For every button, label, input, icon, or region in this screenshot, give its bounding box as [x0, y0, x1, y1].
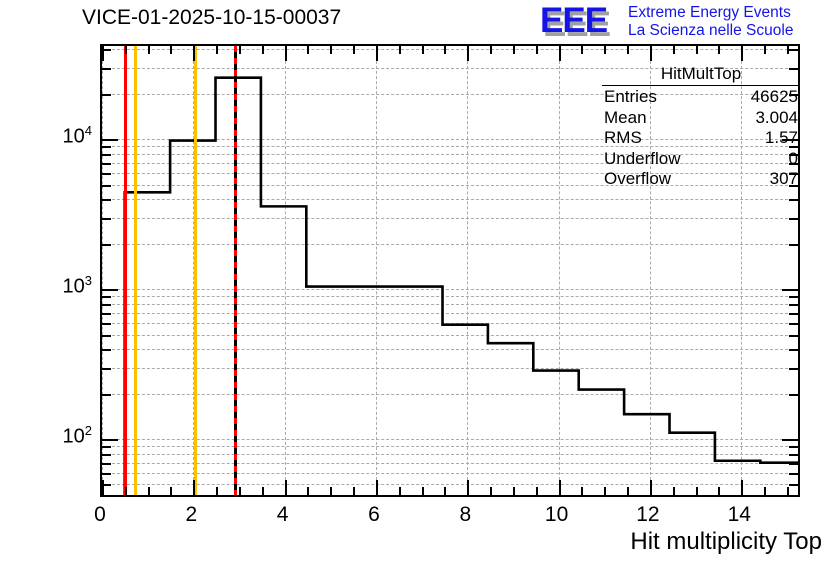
stats-row-label: RMS	[604, 128, 642, 149]
x-tick	[604, 487, 606, 495]
y-tick	[789, 313, 798, 315]
x-axis-tick-label: 6	[344, 503, 404, 527]
page-title: VICE-01-2025-10-15-00037	[82, 6, 341, 30]
x-tick	[696, 46, 698, 54]
x-tick	[102, 480, 104, 495]
eee-logo-line1: Extreme Energy Events	[628, 4, 793, 22]
x-tick	[285, 46, 287, 61]
x-tick	[559, 46, 561, 61]
stats-row: Overflow307	[600, 169, 802, 190]
x-tick	[673, 487, 675, 495]
x-tick	[376, 46, 378, 61]
x-tick	[399, 46, 401, 54]
y-tick	[102, 454, 111, 456]
x-tick	[627, 46, 629, 54]
y-tick-mantissa: 10	[63, 276, 85, 298]
eee-logo-text: Extreme Energy Events La Scienza nelle S…	[628, 4, 793, 40]
y-tick	[789, 199, 798, 201]
y-tick	[102, 163, 111, 165]
y-tick	[789, 463, 798, 465]
x-tick	[193, 46, 195, 61]
y-tick	[102, 185, 111, 187]
y-axis-tick-label: 103	[63, 273, 92, 299]
x-axis-tick-label: 2	[161, 503, 221, 527]
x-axis-tick-label: 12	[618, 503, 678, 527]
x-tick	[444, 46, 446, 54]
x-tick	[216, 487, 218, 495]
stats-divider	[602, 85, 800, 86]
x-tick	[787, 46, 789, 54]
marker-red-low	[124, 46, 127, 495]
x-tick	[536, 487, 538, 495]
x-axis-tick-label: 4	[253, 503, 313, 527]
stats-row-label: Overflow	[604, 169, 671, 190]
x-tick	[673, 46, 675, 54]
y-tick-exponent: 3	[85, 273, 92, 288]
y-tick	[102, 313, 111, 315]
y-tick	[789, 454, 798, 456]
x-tick	[330, 46, 332, 54]
x-tick	[330, 487, 332, 495]
y-tick	[789, 244, 798, 246]
y-tick	[102, 139, 118, 141]
marker-orange-high	[194, 46, 197, 495]
x-tick	[650, 480, 652, 495]
x-tick	[353, 46, 355, 54]
y-tick	[789, 484, 798, 486]
stats-row-value: 3.004	[755, 108, 798, 129]
x-tick	[604, 46, 606, 54]
x-tick	[490, 46, 492, 54]
x-tick	[239, 46, 241, 54]
x-tick	[262, 487, 264, 495]
stats-row: Mean3.004	[600, 108, 802, 129]
x-tick	[559, 480, 561, 495]
x-tick	[376, 480, 378, 495]
x-tick	[696, 487, 698, 495]
y-tick	[102, 218, 111, 220]
x-tick	[581, 487, 583, 495]
stats-rows: Entries46625Mean3.004RMS1.57Underflow0Ov…	[600, 87, 802, 190]
x-tick	[216, 46, 218, 54]
y-tick	[102, 446, 111, 448]
stats-row-label: Mean	[604, 108, 647, 129]
x-tick	[718, 487, 720, 495]
y-tick	[102, 473, 111, 475]
y-tick	[782, 289, 798, 291]
y-tick-mantissa: 10	[63, 126, 85, 148]
y-tick	[102, 304, 111, 306]
x-tick	[193, 480, 195, 495]
y-tick-exponent: 2	[85, 423, 92, 438]
y-tick	[789, 368, 798, 370]
x-tick	[148, 46, 150, 54]
y-tick	[102, 439, 118, 441]
x-axis-tick-label: 10	[527, 503, 587, 527]
y-axis-tick-label: 102	[63, 423, 92, 449]
x-tick	[467, 46, 469, 61]
x-tick	[353, 487, 355, 495]
y-tick	[789, 473, 798, 475]
x-tick	[490, 487, 492, 495]
eee-logo: EEE EEE Extreme Energy Events La Scienza…	[540, 2, 832, 42]
y-tick	[789, 296, 798, 298]
y-tick	[789, 446, 798, 448]
x-tick	[307, 46, 309, 54]
stats-box: HitMultTop Entries46625Mean3.004RMS1.57U…	[600, 64, 802, 190]
y-tick	[102, 349, 111, 351]
stats-row-value: 46625	[751, 87, 798, 108]
x-tick	[787, 487, 789, 495]
x-axis-tick-label: 0	[70, 503, 130, 527]
x-tick	[239, 487, 241, 495]
stats-row: Underflow0	[600, 149, 802, 170]
x-axis-tick-label: 8	[435, 503, 495, 527]
stats-row-value: 0	[789, 149, 798, 170]
y-tick	[789, 335, 798, 337]
y-tick	[102, 68, 111, 70]
y-tick	[102, 94, 111, 96]
y-tick	[102, 323, 111, 325]
y-tick	[789, 349, 798, 351]
eee-logo-mark: EEE	[540, 3, 607, 38]
y-tick	[102, 146, 111, 148]
stats-row-value: 1.57	[765, 128, 798, 149]
x-tick	[170, 487, 172, 495]
y-tick	[102, 244, 111, 246]
x-tick	[467, 480, 469, 495]
y-tick	[102, 368, 111, 370]
y-tick	[102, 296, 111, 298]
x-tick	[125, 487, 127, 495]
y-tick	[789, 49, 798, 51]
stats-row-label: Underflow	[604, 149, 681, 170]
x-tick	[148, 487, 150, 495]
x-tick	[422, 46, 424, 54]
x-tick	[764, 46, 766, 54]
eee-logo-line2: La Scienza nelle Scuole	[628, 22, 793, 40]
y-tick	[789, 394, 798, 396]
x-tick	[764, 487, 766, 495]
x-tick	[581, 46, 583, 54]
y-tick-mantissa: 10	[63, 426, 85, 448]
x-tick	[399, 487, 401, 495]
y-tick	[789, 323, 798, 325]
x-tick	[125, 46, 127, 54]
y-tick	[102, 154, 111, 156]
stats-row-value: 307	[770, 169, 798, 190]
x-tick	[650, 46, 652, 61]
x-tick	[422, 487, 424, 495]
y-tick	[102, 199, 111, 201]
stats-row: Entries46625	[600, 87, 802, 108]
x-tick	[102, 46, 104, 61]
stats-row: RMS1.57	[600, 128, 802, 149]
x-tick	[627, 487, 629, 495]
x-tick	[307, 487, 309, 495]
x-tick	[741, 480, 743, 495]
x-tick	[262, 46, 264, 54]
x-axis-tick-label: 14	[709, 503, 769, 527]
marker-red-high	[234, 46, 237, 495]
y-tick-exponent: 4	[85, 123, 92, 138]
y-tick	[789, 304, 798, 306]
x-tick	[536, 46, 538, 54]
x-axis-title: Hit multiplicity Top	[630, 528, 822, 556]
y-axis-tick-label: 104	[63, 123, 92, 149]
x-tick	[170, 46, 172, 54]
y-tick	[102, 173, 111, 175]
y-tick	[782, 439, 798, 441]
root-canvas: VICE-01-2025-10-15-00037 EEE EEE Extreme…	[0, 0, 836, 572]
x-tick	[444, 487, 446, 495]
stats-title: HitMultTop	[600, 64, 802, 85]
y-tick	[102, 289, 118, 291]
x-tick	[718, 46, 720, 54]
y-tick	[102, 335, 111, 337]
x-tick	[285, 480, 287, 495]
stats-row-label: Entries	[604, 87, 657, 108]
marker-orange-low	[134, 46, 137, 495]
y-tick	[102, 463, 111, 465]
x-tick	[513, 487, 515, 495]
y-tick	[102, 394, 111, 396]
x-tick	[513, 46, 515, 54]
y-tick	[789, 218, 798, 220]
x-tick	[741, 46, 743, 61]
